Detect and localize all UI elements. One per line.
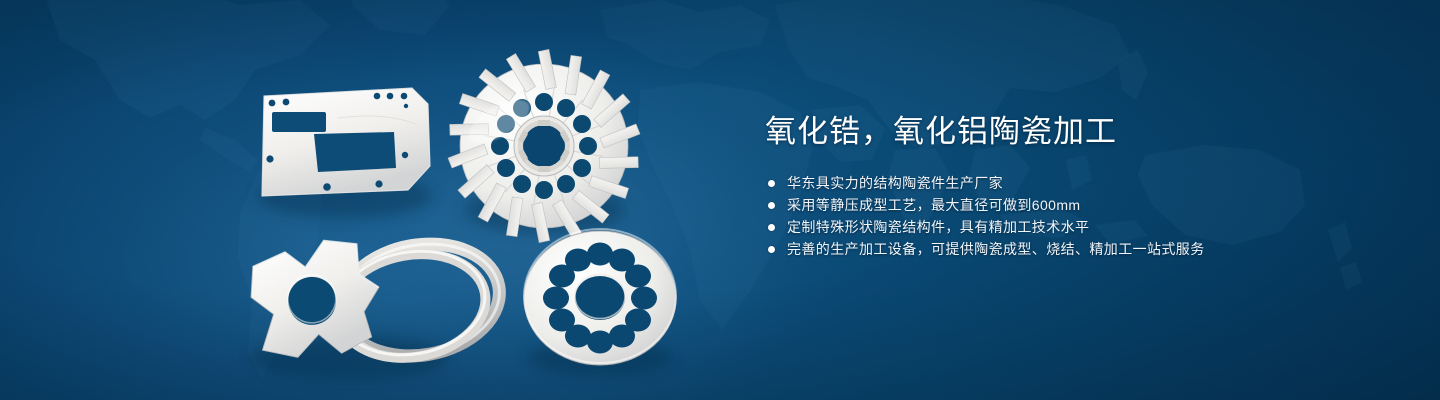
copy-block: 氧化锆，氧化铝陶瓷加工 华东具实力的结构陶瓷件生产厂家 采用等静压成型工艺，最大… [765, 112, 1385, 260]
bullet-dot-icon [768, 246, 775, 253]
feature-list: 华东具实力的结构陶瓷件生产厂家 采用等静压成型工艺，最大直径可做到600mm 定… [768, 172, 1385, 260]
bullet-dot-icon [768, 202, 775, 209]
page-title: 氧化锆，氧化铝陶瓷加工 [765, 112, 1385, 152]
list-item: 采用等静压成型工艺，最大直径可做到600mm [768, 194, 1385, 216]
feature-text: 完善的生产加工设备，可提供陶瓷成型、烧结、精加工一站式服务 [787, 238, 1205, 260]
bullet-dot-icon [768, 224, 775, 231]
list-item: 定制特殊形状陶瓷结构件，具有精加工技术水平 [768, 216, 1385, 238]
feature-text: 定制特殊形状陶瓷结构件，具有精加工技术水平 [787, 216, 1089, 238]
hero-banner: 氧化锆，氧化铝陶瓷加工 华东具实力的结构陶瓷件生产厂家 采用等静压成型工艺，最大… [0, 0, 1440, 400]
feature-text: 华东具实力的结构陶瓷件生产厂家 [787, 172, 1003, 194]
list-item: 完善的生产加工设备，可提供陶瓷成型、烧结、精加工一站式服务 [768, 238, 1385, 260]
feature-text: 采用等静压成型工艺，最大直径可做到600mm [787, 194, 1080, 216]
list-item: 华东具实力的结构陶瓷件生产厂家 [768, 172, 1385, 194]
bullet-dot-icon [768, 180, 775, 187]
